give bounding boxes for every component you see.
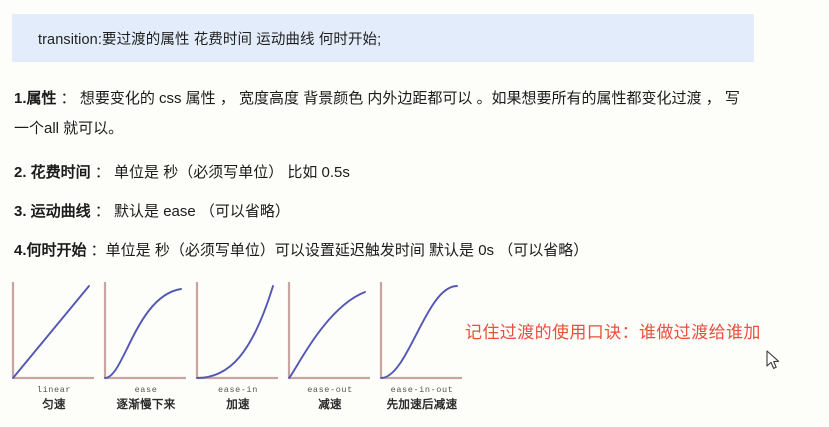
transition-syntax-banner: transition:要过渡的属性 花费时间 运动曲线 何时开始; bbox=[12, 14, 754, 62]
transition-syntax-text: transition:要过渡的属性 花费时间 运动曲线 何时开始; bbox=[38, 28, 381, 49]
arrow-pointer-icon bbox=[766, 350, 782, 372]
curve-card-ease-out: ease-out 减速 bbox=[286, 278, 374, 423]
curve-plot-ease-out bbox=[286, 278, 374, 386]
note-lead-timing: 3. 运动曲线 bbox=[14, 203, 91, 220]
curve-en-ease-in-out: ease-in-out bbox=[378, 384, 466, 397]
spacer-1 bbox=[14, 144, 814, 158]
curve-cn-ease-out: 减速 bbox=[286, 397, 374, 413]
curve-labels-ease-in: ease-in 加速 bbox=[194, 384, 282, 413]
curve-cn-ease: 逐渐慢下来 bbox=[102, 397, 190, 413]
transition-mnemonic-annotation: 记住过渡的使用口诀：谁做过渡给谁加 bbox=[465, 318, 761, 343]
note-item-duration: 2. 花费时间 ： 单位是 秒（必须写单位） 比如 0.5s bbox=[14, 158, 814, 188]
notes-list: 1.属性 ： 想要变化的 css 属性 ， 宽度高度 背景颜色 内外边距都可以 … bbox=[14, 84, 814, 266]
note-item-property: 1.属性 ： 想要变化的 css 属性 ， 宽度高度 背景颜色 内外边距都可以 … bbox=[14, 84, 754, 144]
curve-labels-ease-out: ease-out 减速 bbox=[286, 384, 374, 413]
curve-plot-ease bbox=[102, 278, 190, 386]
note-item-delay: 4.何时开始 ：单位是 秒（必须写单位）可以设置延迟触发时间 默认是 0s （可… bbox=[14, 236, 814, 266]
note-body-delay: ：单位是 秒（必须写单位）可以设置延迟触发时间 默认是 0s （可以省略） bbox=[87, 242, 589, 259]
note-lead-property: 1.属性 bbox=[14, 90, 57, 107]
curve-cn-ease-in-out: 先加速后减速 bbox=[378, 397, 466, 413]
spacer-2 bbox=[14, 188, 814, 197]
curve-en-ease-out: ease-out bbox=[286, 384, 374, 397]
note-item-timing: 3. 运动曲线 ： 默认是 ease （可以省略） bbox=[14, 197, 814, 227]
curve-card-ease-in: ease-in 加速 bbox=[194, 278, 282, 423]
curve-cn-ease-in: 加速 bbox=[194, 397, 282, 413]
curve-labels-linear: linear 匀速 bbox=[10, 384, 98, 413]
curve-card-ease: ease 逐渐慢下来 bbox=[102, 278, 190, 423]
note-body-duration: ： 单位是 秒（必须写单位） 比如 0.5s bbox=[91, 164, 350, 181]
spacer-3 bbox=[14, 227, 814, 236]
note-body-property: ： 想要变化的 css 属性 ， 宽度高度 背景颜色 内外边距都可以 。如果想要… bbox=[14, 90, 740, 137]
curve-card-ease-in-out: ease-in-out 先加速后减速 bbox=[378, 278, 466, 423]
curve-labels-ease: ease 逐渐慢下来 bbox=[102, 384, 190, 413]
timing-function-figure-strip: linear 匀速 ease 逐渐慢下来 ease-in 加速 bbox=[10, 278, 458, 423]
curve-en-ease-in: ease-in bbox=[194, 384, 282, 397]
curve-plot-linear bbox=[10, 278, 98, 386]
curve-card-linear: linear 匀速 bbox=[10, 278, 98, 423]
curve-plot-ease-in bbox=[194, 278, 282, 386]
note-lead-delay: 4.何时开始 bbox=[14, 242, 87, 259]
curve-labels-ease-in-out: ease-in-out 先加速后减速 bbox=[378, 384, 466, 413]
curve-en-ease: ease bbox=[102, 384, 190, 397]
curve-en-linear: linear bbox=[10, 384, 98, 397]
note-lead-duration: 2. 花费时间 bbox=[14, 164, 91, 181]
curve-plot-ease-in-out bbox=[378, 278, 466, 386]
curve-cn-linear: 匀速 bbox=[10, 397, 98, 413]
note-body-timing: ： 默认是 ease （可以省略） bbox=[91, 203, 290, 220]
